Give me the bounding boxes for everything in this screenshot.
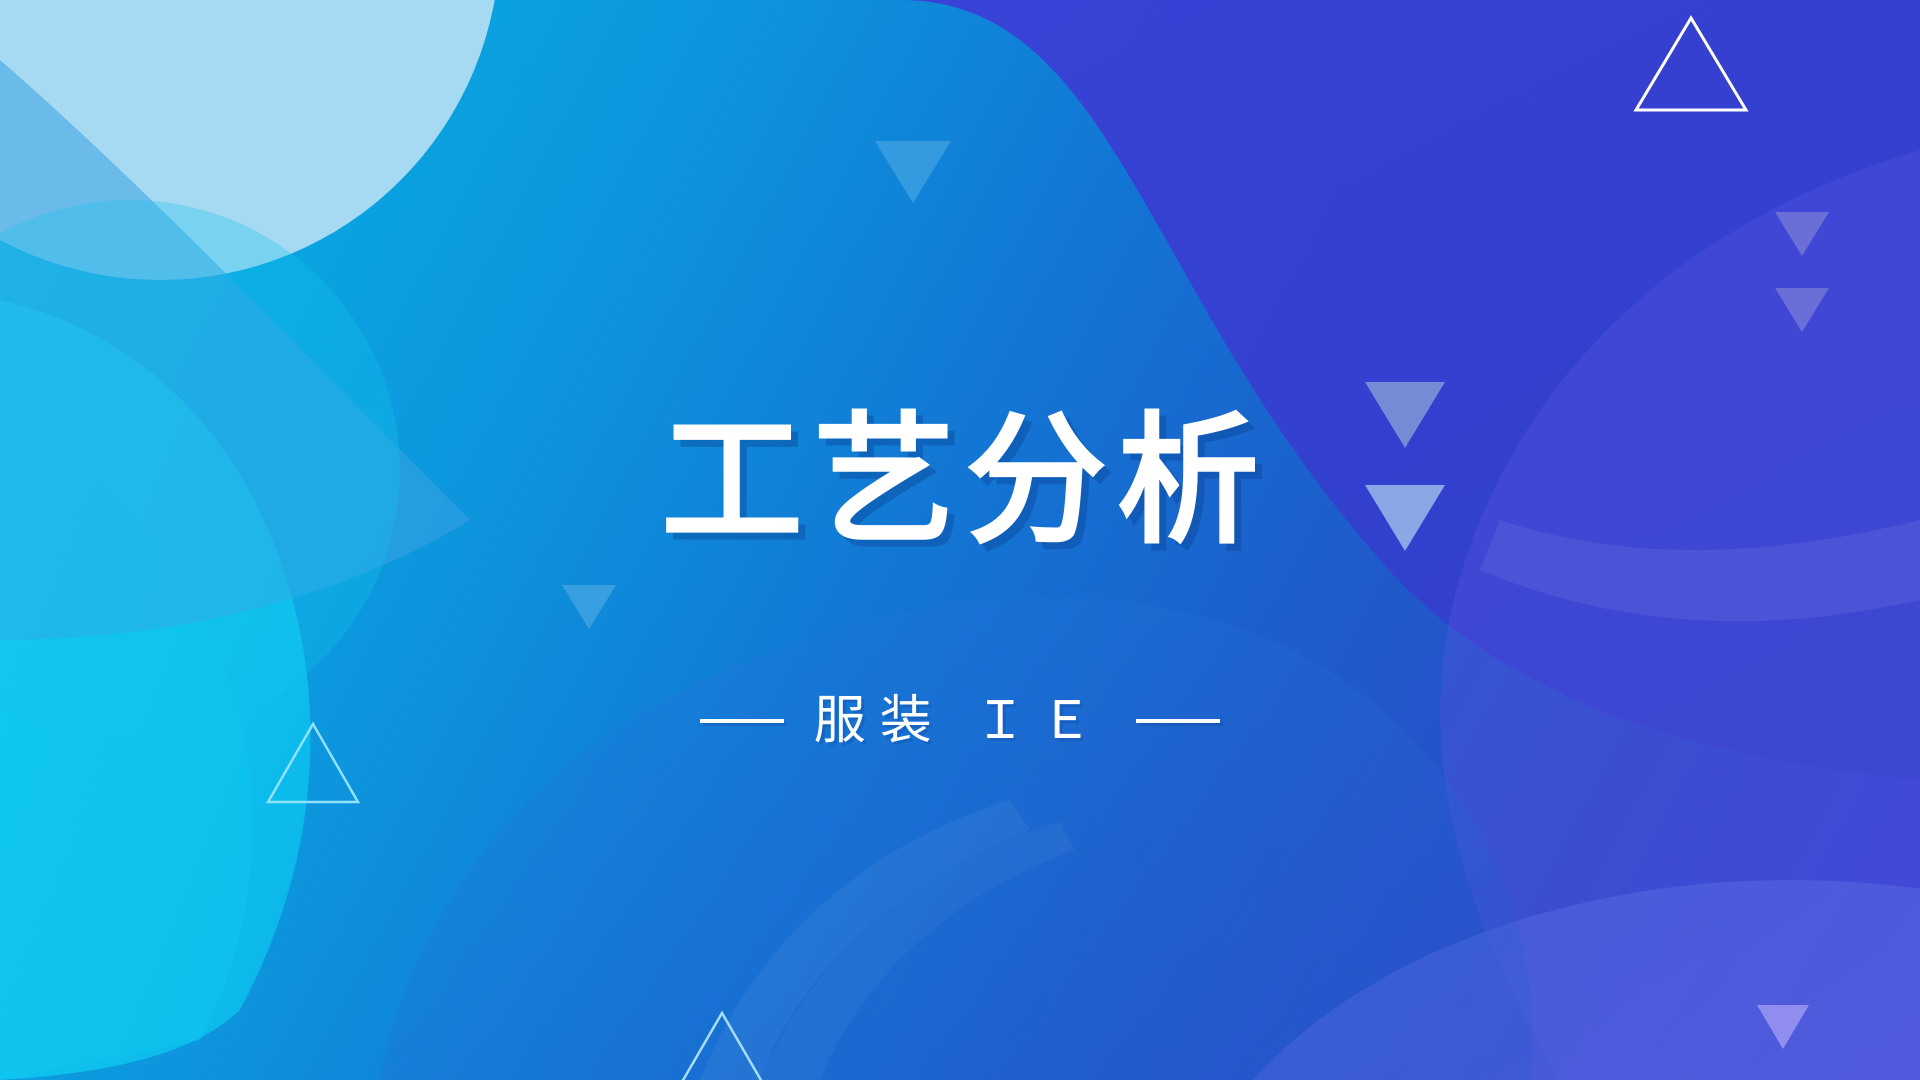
triangle-top-center-icon	[875, 141, 951, 203]
presentation-slide: 工艺分析 服装 ＩＥ	[0, 0, 1920, 1080]
decor-svg	[0, 0, 1920, 1080]
triangle-outline-top-right-icon	[1636, 18, 1746, 110]
decor-triangles	[0, 0, 1920, 1080]
triangle-right-large-upper-icon	[1365, 382, 1445, 448]
triangle-outline-bottom-left-icon	[268, 724, 358, 802]
triangle-left-mid-icon	[562, 585, 616, 629]
triangle-right-large-lower-icon	[1365, 485, 1445, 551]
triangle-outline-bottom-center-icon	[657, 1013, 787, 1080]
triangle-right-small-upper-icon	[1775, 212, 1829, 256]
triangle-bottom-right-icon	[1757, 1005, 1809, 1049]
triangle-right-small-lower-icon	[1775, 288, 1829, 332]
